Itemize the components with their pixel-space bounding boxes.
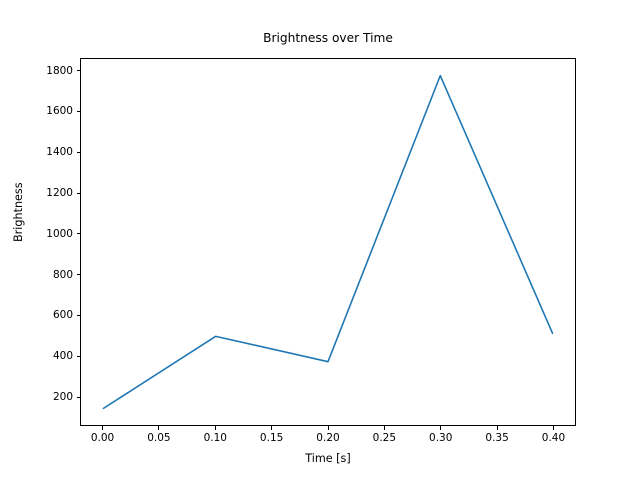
x-tick-mark: [328, 426, 329, 430]
x-tick-label: 0.20: [316, 432, 339, 444]
y-tick-label: 1800: [38, 65, 73, 77]
chart-title: Brightness over Time: [80, 30, 576, 46]
y-tick-mark: [77, 397, 81, 398]
plot-area: [80, 58, 576, 426]
y-tick-label: 200: [38, 391, 73, 403]
x-tick-mark: [102, 426, 103, 430]
x-tick-label: 0.25: [373, 432, 396, 444]
brightness-line-series: [103, 76, 552, 409]
x-tick-label: 0.00: [91, 432, 114, 444]
y-tick-label: 1400: [38, 146, 73, 158]
y-tick-mark: [77, 233, 81, 234]
line-series-svg: [81, 59, 575, 425]
y-tick-label: 1600: [38, 105, 73, 117]
x-tick-label: 0.10: [204, 432, 227, 444]
y-tick-mark: [77, 70, 81, 71]
y-tick-label: 1000: [38, 228, 73, 240]
x-tick-mark: [384, 426, 385, 430]
y-tick-mark: [77, 193, 81, 194]
matplotlib-figure: Brightness over Time 0.000.050.100.150.2…: [0, 0, 640, 480]
y-tick-mark: [77, 152, 81, 153]
x-tick-mark: [271, 426, 272, 430]
y-tick-label: 600: [38, 309, 73, 321]
y-tick-mark: [77, 111, 81, 112]
x-tick-mark: [497, 426, 498, 430]
x-tick-mark: [158, 426, 159, 430]
y-tick-label: 400: [38, 350, 73, 362]
x-tick-label: 0.15: [260, 432, 283, 444]
y-tick-mark: [77, 356, 81, 357]
y-tick-mark: [77, 315, 81, 316]
x-tick-label: 0.05: [147, 432, 170, 444]
x-tick-label: 0.30: [429, 432, 452, 444]
x-tick-label: 0.40: [542, 432, 565, 444]
y-axis-label: Brightness: [12, 182, 25, 242]
x-tick-mark: [215, 426, 216, 430]
y-tick-mark: [77, 274, 81, 275]
x-tick-mark: [553, 426, 554, 430]
y-tick-label: 1200: [38, 187, 73, 199]
x-tick-mark: [440, 426, 441, 430]
y-tick-label: 800: [38, 269, 73, 281]
x-axis-label: Time [s]: [80, 452, 576, 465]
x-tick-label: 0.35: [485, 432, 508, 444]
